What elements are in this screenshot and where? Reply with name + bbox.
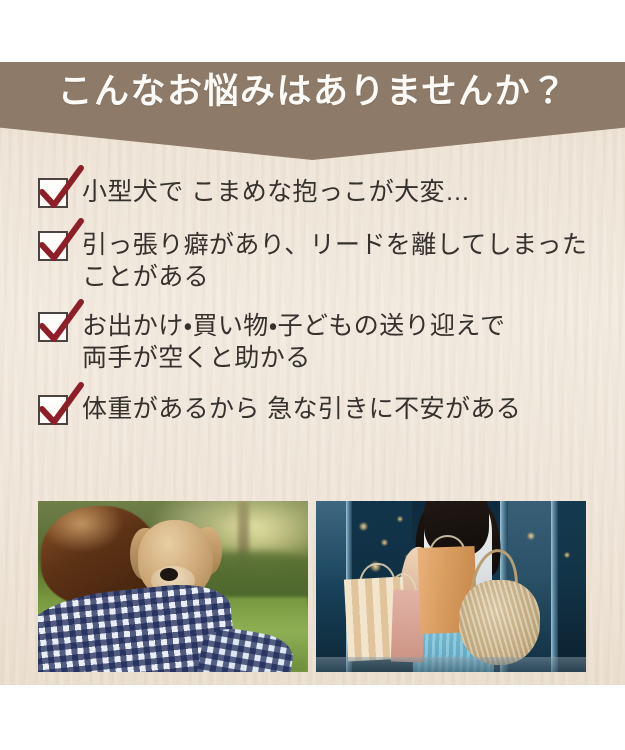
photo-woman-shopping-bags [316, 501, 586, 672]
checkbox[interactable] [38, 178, 68, 208]
window-mullion [551, 501, 558, 672]
checkbox[interactable] [38, 395, 68, 425]
photo-strip [38, 501, 586, 672]
checkmark-icon [36, 383, 86, 429]
window-pane [558, 501, 586, 672]
list-item-line: お出かけ・買い物・子どもの送り迎えで [82, 310, 505, 343]
list-item: 体重があるから 急な引きに不安がある [0, 393, 625, 426]
window-pane [316, 501, 346, 672]
promo-image-root: こんなお悩みはありませんか？ 小型犬で こまめな抱っこが大変… 引っ張り癖があり… [0, 0, 625, 750]
checkmark-icon [36, 219, 86, 265]
bokeh-light [381, 539, 388, 546]
straw-tote-bag [459, 580, 540, 666]
photo-person-holding-dog [38, 501, 308, 672]
list-item-line: 体重があるから 急な引きに不安がある [82, 393, 521, 426]
list-item-line: 引っ張り癖があり、リードを離してしまった [82, 229, 587, 262]
list-item: お出かけ・買い物・子どもの送り迎えで 両手が空くと助かる [0, 310, 625, 375]
bokeh-light [527, 532, 535, 540]
problem-checklist: 小型犬で こまめな抱っこが大変… 引っ張り癖があり、リードを離してしまった こと… [0, 176, 625, 439]
list-item-text: 小型犬で こまめな抱っこが大変… [82, 176, 470, 209]
page-title: こんなお悩みはありませんか？ [58, 70, 568, 114]
list-item-line: ことがある [82, 261, 587, 294]
bokeh-light [359, 522, 368, 531]
list-item-text: お出かけ・買い物・子どもの送り迎えで 両手が空くと助かる [82, 310, 505, 375]
list-item: 引っ張り癖があり、リードを離してしまった ことがある [0, 229, 625, 294]
list-item-text: 体重があるから 急な引きに不安がある [82, 393, 521, 426]
checkbox[interactable] [38, 312, 68, 342]
checkmark-icon [36, 300, 86, 346]
list-item-line: 両手が空くと助かる [82, 342, 505, 375]
sidewalk [316, 657, 586, 672]
checkbox[interactable] [38, 231, 68, 261]
list-item-line: 小型犬で こまめな抱っこが大変… [82, 176, 470, 209]
checkmark-icon [36, 166, 86, 212]
list-item: 小型犬で こまめな抱っこが大変… [0, 176, 625, 209]
list-item-text: 引っ張り癖があり、リードを離してしまった ことがある [82, 229, 587, 294]
